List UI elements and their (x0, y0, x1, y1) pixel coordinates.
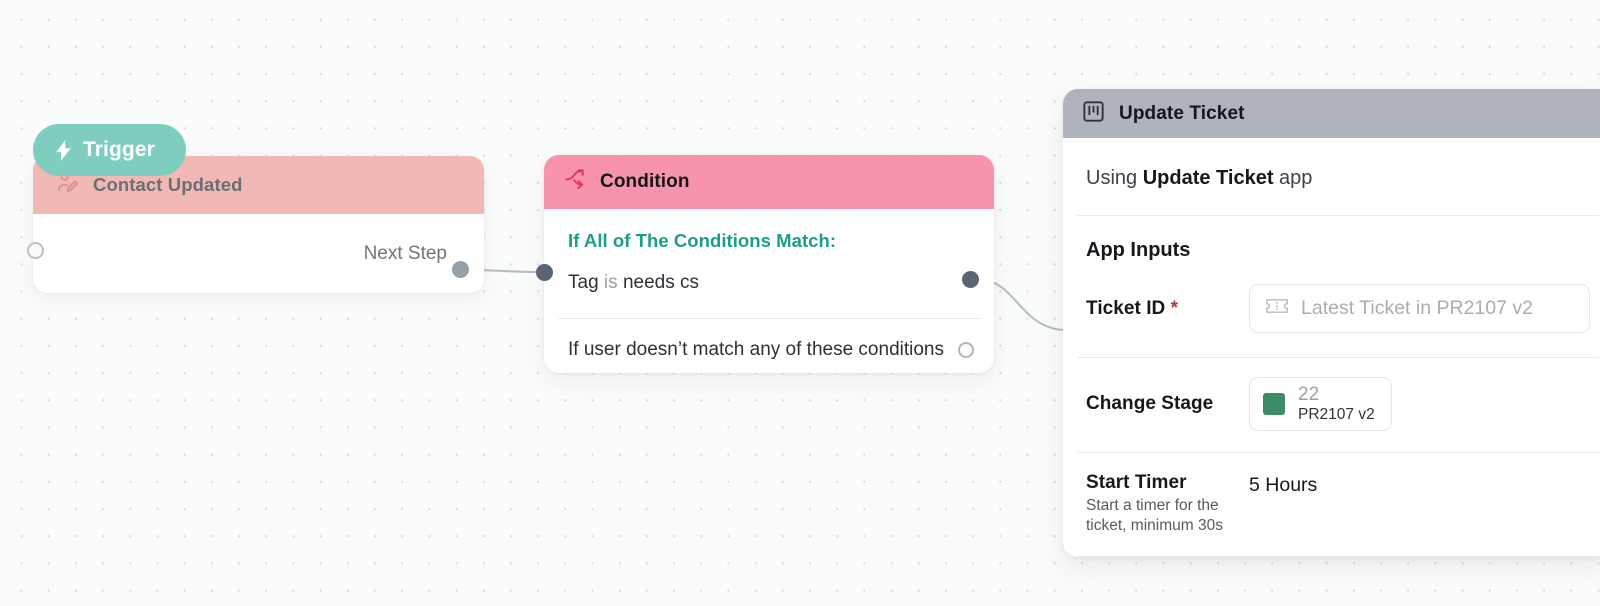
stage-value-secondary: PR2107 v2 (1298, 406, 1375, 424)
using-app-row: Using Update Ticket app (1077, 138, 1599, 190)
ticket-panel-body: Using Update Ticket app App Inputs Ticke… (1063, 138, 1600, 557)
start-timer-label-wrap: Start Timer Start a timer for the ticket… (1086, 472, 1249, 536)
condition-body: If All of The Conditions Match: Tag is n… (544, 209, 994, 361)
trigger-next-step-label: Next Step (364, 243, 447, 265)
trigger-output-port[interactable] (452, 261, 469, 278)
condition-fallback-label: If user doesn’t match any of these condi… (568, 339, 944, 361)
ticket-id-placeholder: Latest Ticket in PR2107 v2 (1301, 297, 1533, 320)
field-row-ticket-id: Ticket ID * Latest Ticket in PR2107 v2 (1077, 284, 1599, 333)
trigger-card-footer: Next Step (33, 214, 484, 293)
trigger-event-label: Contact Updated (93, 174, 243, 196)
condition-rule-field: Tag (568, 272, 599, 293)
start-timer-label: Start Timer (1086, 472, 1249, 494)
change-stage-value[interactable]: 22 PR2107 v2 (1249, 377, 1392, 431)
divider-after-ticket-id (1077, 357, 1599, 358)
update-ticket-panel[interactable]: Update Ticket Using Update Ticket app Ap… (1063, 89, 1600, 557)
ticket-panel-header[interactable]: Update Ticket (1063, 89, 1600, 138)
condition-header[interactable]: Condition (544, 155, 994, 209)
ticket-id-label: Ticket ID * (1086, 298, 1249, 320)
stage-value-primary: 22 (1298, 384, 1375, 406)
trigger-node-card[interactable]: Contact Updated Next Step (33, 156, 484, 293)
ticket-panel-title: Update Ticket (1119, 103, 1245, 125)
ticket-id-input[interactable]: Latest Ticket in PR2107 v2 (1249, 284, 1590, 333)
condition-match-title: If All of The Conditions Match: (544, 230, 994, 252)
divider-after-change-stage (1077, 452, 1599, 453)
condition-fallback-row[interactable]: If user doesn’t match any of these condi… (544, 319, 994, 361)
using-suffix: app (1279, 167, 1312, 189)
ticket-id-required-marker: * (1171, 298, 1178, 319)
branch-split-icon (563, 167, 588, 197)
ticket-id-label-text: Ticket ID (1086, 298, 1165, 319)
condition-input-port[interactable] (536, 264, 553, 281)
trigger-pill[interactable]: Trigger (33, 124, 186, 176)
condition-rule-operator: is (604, 272, 618, 293)
condition-output-port[interactable] (962, 271, 979, 288)
condition-fallback-port[interactable] (958, 342, 974, 358)
stage-text-wrap: 22 PR2107 v2 (1298, 384, 1375, 423)
app-inputs-title: App Inputs (1077, 216, 1599, 262)
condition-header-label: Condition (600, 171, 690, 193)
change-stage-label-wrap: Change Stage (1086, 393, 1249, 415)
using-prefix: Using (1086, 167, 1137, 189)
start-timer-value[interactable]: 5 Hours (1249, 474, 1317, 497)
field-row-start-timer: Start Timer Start a timer for the ticket… (1077, 472, 1599, 536)
condition-rule-row[interactable]: Tag is needs cs (544, 252, 994, 294)
lightning-bolt-icon (55, 140, 72, 161)
kanban-board-icon (1081, 99, 1106, 129)
using-app-name: Update Ticket (1143, 167, 1274, 189)
ticket-id-label-wrap: Ticket ID * (1086, 298, 1249, 320)
condition-rule-value: needs cs (623, 272, 699, 293)
ticket-stub-icon (1265, 296, 1289, 321)
trigger-input-port[interactable] (27, 242, 44, 259)
trigger-pill-label: Trigger (83, 138, 155, 162)
start-timer-description: Start a timer for the ticket, minimum 30… (1086, 496, 1249, 536)
field-row-change-stage: Change Stage 22 PR2107 v2 (1077, 377, 1599, 431)
change-stage-label: Change Stage (1086, 393, 1249, 415)
stage-color-swatch (1263, 393, 1285, 415)
condition-node-card[interactable]: Condition If All of The Conditions Match… (544, 155, 994, 373)
